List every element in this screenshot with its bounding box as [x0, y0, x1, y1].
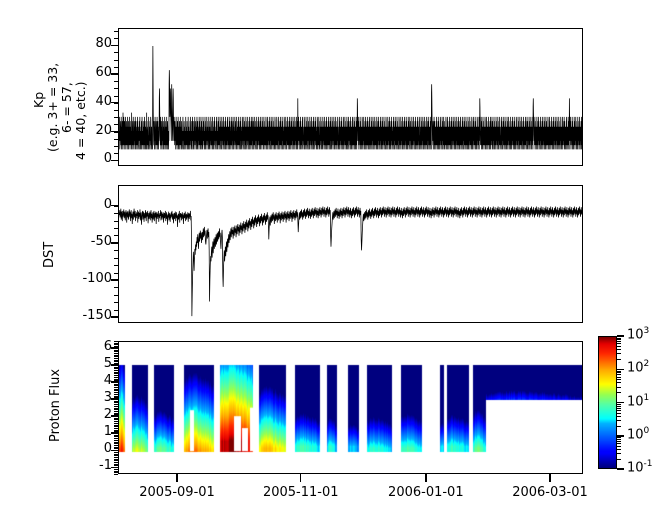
axis-tick-minor	[114, 52, 118, 53]
axis-tick-minor	[114, 367, 118, 368]
axis-tick-minor	[114, 110, 118, 111]
colorbar-tick-minor	[617, 372, 621, 373]
axis-tick-minor	[114, 390, 118, 391]
axis-tick-minor	[114, 430, 118, 431]
axis-tick-minor	[114, 472, 118, 473]
axis-tick-minor	[114, 431, 118, 432]
axis-tick-minor	[114, 372, 118, 373]
colorbar-tick-major	[617, 468, 624, 469]
colorbar	[598, 336, 617, 469]
colorbar-tick-minor	[617, 404, 621, 405]
axis-tick-label: -50	[52, 234, 112, 249]
axis-tick-minor	[114, 310, 118, 311]
colorbar-tick-minor	[617, 379, 621, 380]
colorbar-tick-minor	[617, 453, 621, 454]
axis-tick-minor	[114, 455, 118, 456]
axis-tick-label: -1	[52, 458, 112, 473]
axis-tick-minor	[114, 235, 118, 236]
axis-tick-minor	[114, 373, 118, 374]
axis-tick-minor	[114, 356, 118, 357]
axis-tick-minor	[114, 96, 118, 97]
axis-tick-minor	[114, 363, 118, 364]
axis-tick-minor	[114, 361, 118, 362]
axis-tick-minor	[114, 411, 118, 412]
x-axis-tick	[176, 474, 177, 482]
kp-axis-label-line2: (e.g. 3+ = 33,	[46, 63, 59, 152]
colorbar-tick-minor	[617, 374, 621, 375]
colorbar-tick-minor	[617, 426, 621, 427]
axis-tick-minor	[114, 457, 118, 458]
axis-tick-minor	[114, 360, 118, 361]
axis-tick-minor	[114, 153, 118, 154]
colorbar-tick-label: 100	[627, 426, 649, 442]
axis-tick-minor	[114, 450, 118, 451]
axis-tick-minor	[114, 287, 118, 288]
colorbar-tick-minor	[617, 382, 621, 383]
axis-tick-minor	[114, 355, 118, 356]
colorbar-tick-label: 10-1	[627, 459, 653, 475]
colorbar-tick-minor	[617, 459, 621, 460]
axis-tick-minor	[114, 221, 118, 222]
axis-tick-minor	[114, 448, 118, 449]
axis-tick-minor	[114, 358, 118, 359]
colorbar-tick-minor	[617, 346, 621, 347]
axis-tick-minor	[114, 341, 118, 342]
colorbar-gradient	[599, 337, 616, 468]
axis-tick-minor	[114, 460, 118, 461]
colorbar-tick-minor	[617, 446, 621, 447]
colorbar-tick-minor	[617, 349, 621, 350]
axis-tick-minor	[114, 462, 118, 463]
axis-tick-minor	[114, 160, 118, 161]
dst-axis-label: DST	[42, 242, 57, 268]
colorbar-tick-label: 101	[627, 393, 649, 409]
x-axis-tick-label: 2005-11-01	[246, 485, 356, 500]
colorbar-tick-minor	[617, 392, 621, 393]
axis-tick-label: 60	[52, 65, 112, 80]
axis-tick-minor	[114, 418, 118, 419]
proton-flux-heatmap	[119, 342, 583, 474]
axis-tick-minor	[114, 348, 118, 349]
colorbar-tick-minor	[617, 443, 621, 444]
x-axis-tick-label: 2006-03-01	[495, 485, 605, 500]
colorbar-tick-label: 103	[627, 326, 649, 342]
axis-tick-minor	[114, 346, 118, 347]
axis-tick-minor	[114, 433, 118, 434]
dst-series-plot	[119, 186, 582, 322]
axis-tick-minor	[114, 295, 118, 296]
axis-tick-minor	[114, 370, 118, 371]
axis-tick-minor	[114, 45, 118, 46]
axis-tick-minor	[114, 408, 118, 409]
axis-tick-label: -150	[52, 308, 112, 323]
kp-axis-label-line3: 6- = 57,	[60, 82, 73, 133]
axis-tick-minor	[114, 31, 118, 32]
axis-tick-minor	[114, 387, 118, 388]
colorbar-tick-minor	[617, 371, 621, 372]
axis-tick-minor	[114, 389, 118, 390]
colorbar-tick-label: 102	[627, 359, 649, 375]
axis-tick-minor	[114, 416, 118, 417]
x-axis-tick	[300, 474, 301, 482]
axis-tick-minor	[114, 419, 118, 420]
colorbar-tick-minor	[617, 341, 621, 342]
axis-tick-minor	[114, 146, 118, 147]
colorbar-tick-minor	[617, 449, 621, 450]
axis-tick-minor	[114, 132, 118, 133]
colorbar-tick-minor	[617, 343, 621, 344]
axis-tick-minor	[114, 464, 118, 465]
kp-axis-label-line4: 4 = 40, etc.)	[74, 81, 87, 160]
colorbar-tick-minor	[617, 437, 621, 438]
axis-tick-minor	[114, 394, 118, 395]
figure-root: 020406080 Kp (e.g. 3+ = 33, 6- = 57, 4 =…	[0, 0, 665, 523]
panel-proton-flux	[118, 341, 583, 474]
colorbar-tick-minor	[617, 406, 621, 407]
axis-tick-minor	[114, 428, 118, 429]
axis-tick-minor	[114, 392, 118, 393]
axis-tick-minor	[114, 438, 118, 439]
axis-tick-minor	[114, 421, 118, 422]
axis-tick-minor	[114, 440, 118, 441]
colorbar-tick-minor	[617, 441, 621, 442]
axis-tick-minor	[114, 467, 118, 468]
axis-tick-minor	[114, 474, 118, 475]
axis-tick-minor	[114, 124, 118, 125]
axis-tick-minor	[114, 67, 118, 68]
axis-tick-minor	[114, 406, 118, 407]
axis-tick-minor	[114, 423, 118, 424]
colorbar-tick-minor	[617, 420, 621, 421]
axis-tick-minor	[114, 206, 118, 207]
axis-tick-minor	[114, 213, 118, 214]
colorbar-tick-minor	[617, 339, 621, 340]
colorbar-tick-minor	[617, 439, 621, 440]
x-axis-tick	[425, 474, 426, 482]
axis-tick-minor	[114, 436, 118, 437]
axis-tick-minor	[114, 379, 118, 380]
axis-tick-minor	[114, 414, 118, 415]
axis-tick-minor	[114, 117, 118, 118]
axis-tick-minor	[114, 435, 118, 436]
axis-tick-label: 80	[52, 36, 112, 51]
axis-tick-minor	[114, 258, 118, 259]
axis-tick-minor	[114, 409, 118, 410]
axis-tick-minor	[114, 426, 118, 427]
colorbar-tick-minor	[617, 416, 621, 417]
axis-tick-label: 0	[52, 441, 112, 456]
axis-tick-minor	[114, 250, 118, 251]
axis-tick-minor	[114, 351, 118, 352]
axis-tick-minor	[114, 396, 118, 397]
kp-series-plot	[119, 29, 582, 165]
axis-tick-minor	[114, 243, 118, 244]
axis-tick-label: 6	[52, 339, 112, 354]
axis-tick-minor	[114, 353, 118, 354]
axis-tick-minor	[114, 442, 118, 443]
colorbar-tick-minor	[617, 359, 621, 360]
proton-flux-axis-label: Proton Flux	[48, 369, 63, 442]
axis-tick-minor	[114, 397, 118, 398]
axis-tick-minor	[114, 402, 118, 403]
colorbar-tick-minor	[617, 377, 621, 378]
axis-tick-minor	[114, 465, 118, 466]
axis-tick-minor	[114, 445, 118, 446]
axis-tick-minor	[114, 380, 118, 381]
axis-tick-minor	[114, 375, 118, 376]
axis-tick-minor	[114, 273, 118, 274]
axis-tick-minor	[114, 404, 118, 405]
colorbar-tick-minor	[617, 413, 621, 414]
axis-tick-minor	[114, 399, 118, 400]
axis-tick-minor	[114, 343, 118, 344]
colorbar-tick-minor	[617, 410, 621, 411]
axis-tick-minor	[114, 401, 118, 402]
axis-tick-minor	[114, 38, 118, 39]
axis-tick-minor	[114, 447, 118, 448]
axis-tick-minor	[114, 413, 118, 414]
axis-tick-minor	[114, 382, 118, 383]
axis-tick-minor	[114, 60, 118, 61]
axis-tick-minor	[114, 81, 118, 82]
axis-tick-minor	[114, 385, 118, 386]
axis-tick-minor	[114, 344, 118, 345]
axis-tick-minor	[114, 384, 118, 385]
kp-axis-label-line1: Kp	[32, 92, 45, 108]
colorbar-tick-minor	[617, 387, 621, 388]
axis-tick-minor	[114, 88, 118, 89]
axis-tick-minor	[114, 317, 118, 318]
axis-tick-minor	[114, 139, 118, 140]
axis-tick-minor	[114, 469, 118, 470]
axis-tick-minor	[114, 280, 118, 281]
axis-tick-label: 0	[52, 197, 112, 212]
colorbar-tick-minor	[617, 353, 621, 354]
axis-tick-minor	[114, 368, 118, 369]
axis-tick-minor	[114, 425, 118, 426]
axis-tick-minor	[114, 74, 118, 75]
x-axis-tick-label: 2005-09-01	[122, 485, 232, 500]
axis-tick-minor	[114, 350, 118, 351]
panel-kp	[118, 28, 583, 166]
colorbar-tick-minor	[617, 408, 621, 409]
axis-tick-minor	[114, 452, 118, 453]
axis-tick-minor	[114, 443, 118, 444]
axis-tick-minor	[114, 454, 118, 455]
colorbar-tick-minor	[617, 338, 621, 339]
axis-tick-minor	[114, 228, 118, 229]
x-axis-tick-label: 2006-01-01	[371, 485, 481, 500]
axis-tick-minor	[114, 459, 118, 460]
axis-tick-minor	[114, 365, 118, 366]
panel-dst	[118, 185, 583, 323]
axis-tick-minor	[114, 377, 118, 378]
axis-tick-minor	[114, 302, 118, 303]
axis-tick-minor	[114, 265, 118, 266]
axis-tick-minor	[114, 471, 118, 472]
axis-tick-minor	[114, 103, 118, 104]
axis-tick-label: -100	[52, 271, 112, 286]
x-axis-tick	[549, 474, 550, 482]
